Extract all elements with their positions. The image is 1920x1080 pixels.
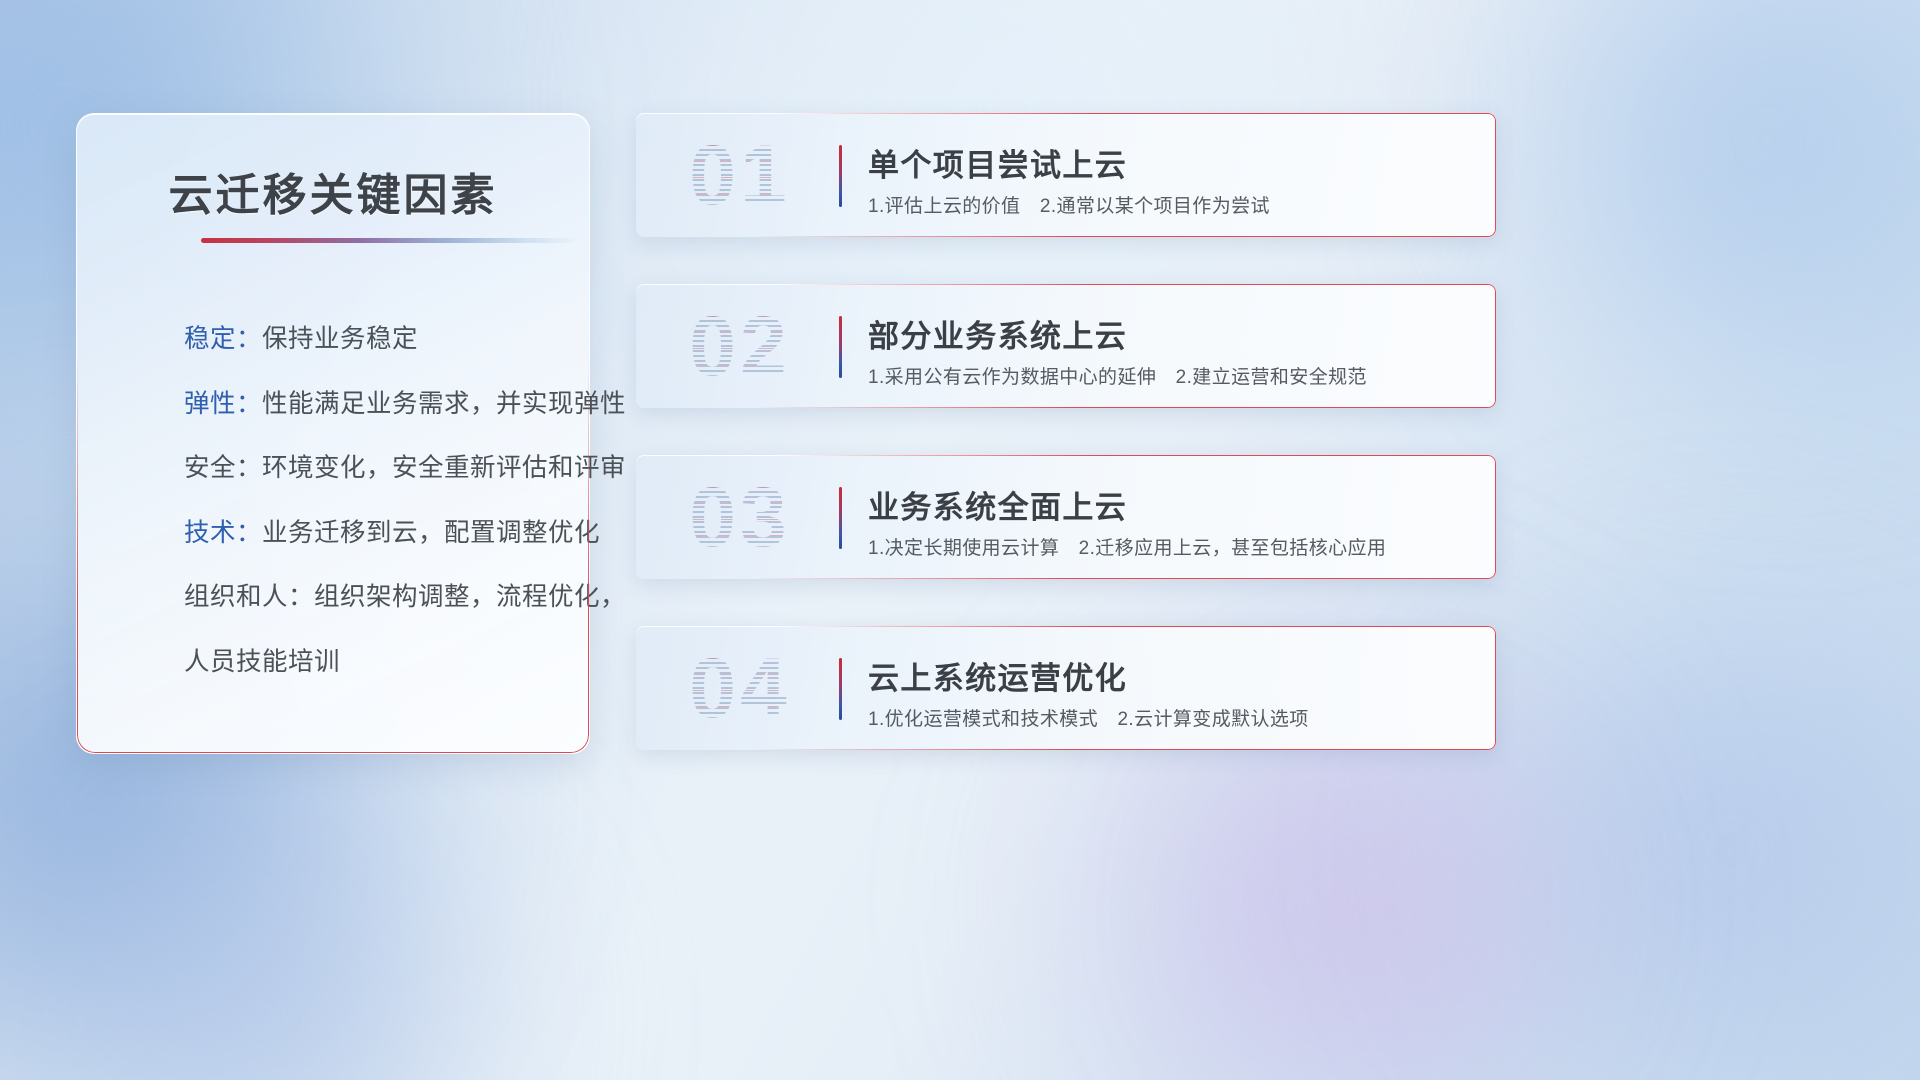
factor-value: 业务迁移到云，配置调整优化 [262,519,600,547]
step-accent-bar [839,658,842,720]
step-title: 单个项目尝试上云 [868,140,1127,185]
factor-value: 组织架构调整，流程优化， [314,583,626,611]
list-item: 安全：环境变化，安全重新评估和评审 [184,456,565,482]
factor-value: 性能满足业务需求，并实现弹性 [262,390,626,418]
step-description: 1.采用公有云作为数据中心的延伸 2.建立运营和安全规范 [868,362,1367,389]
step-description: 1.评估上云的价值 2.通常以某个项目作为尝试 [868,191,1270,218]
panel-title: 云迁移关键因素 [77,159,589,223]
step-accent-bar [839,145,842,207]
step-number-watermark: 04 [660,642,820,734]
factor-key: 安全： [184,454,262,482]
step-description: 1.优化运营模式和技术模式 2.云计算变成默认选项 [868,704,1309,731]
step-title: 业务系统全面上云 [868,482,1127,527]
step-card-01[interactable]: 01 01 单个项目尝试上云 1.评估上云的价值 2.通常以某个项目作为尝试 [636,113,1496,237]
step-title: 云上系统运营优化 [868,653,1127,698]
factor-value: 保持业务稳定 [262,325,418,353]
step-number-watermark: 01 [660,129,820,221]
key-factors-panel: 云迁移关键因素 稳定：保持业务稳定 弹性：性能满足业务需求，并实现弹性 安全：环… [76,113,590,754]
title-underline-rule [201,238,579,243]
step-card-02[interactable]: 02 02 部分业务系统上云 1.采用公有云作为数据中心的延伸 2.建立运营和安… [636,284,1496,408]
list-item: 弹性：性能满足业务需求，并实现弹性 [184,392,565,418]
factor-value: 人员技能培训 [184,648,340,676]
list-item: 组织和人：组织架构调整，流程优化， [184,585,565,611]
list-item: 稳定：保持业务稳定 [184,327,565,353]
background-blob-violet [1180,740,1600,1080]
step-accent-bar [839,487,842,549]
step-card-03[interactable]: 03 03 业务系统全面上云 1.决定长期使用云计算 2.迁移应用上云，甚至包括… [636,455,1496,579]
step-card-04[interactable]: 04 04 云上系统运营优化 1.优化运营模式和技术模式 2.云计算变成默认选项 [636,626,1496,750]
step-number-watermark: 03 [660,471,820,563]
factor-key: 稳定： [184,325,262,353]
key-factors-list: 稳定：保持业务稳定 弹性：性能满足业务需求，并实现弹性 安全：环境变化，安全重新… [184,327,565,675]
factor-key: 组织和人： [184,583,314,611]
list-item: 技术：业务迁移到云，配置调整优化 [184,521,565,547]
step-accent-bar [839,316,842,378]
list-item: 人员技能培训 [184,650,565,676]
factor-value: 环境变化，安全重新评估和评审 [262,454,626,482]
factor-key: 技术： [184,519,262,547]
step-number-watermark: 02 [660,300,820,392]
step-title: 部分业务系统上云 [868,311,1127,356]
factor-key: 弹性： [184,390,262,418]
step-description: 1.决定长期使用云计算 2.迁移应用上云，甚至包括核心应用 [868,533,1386,560]
